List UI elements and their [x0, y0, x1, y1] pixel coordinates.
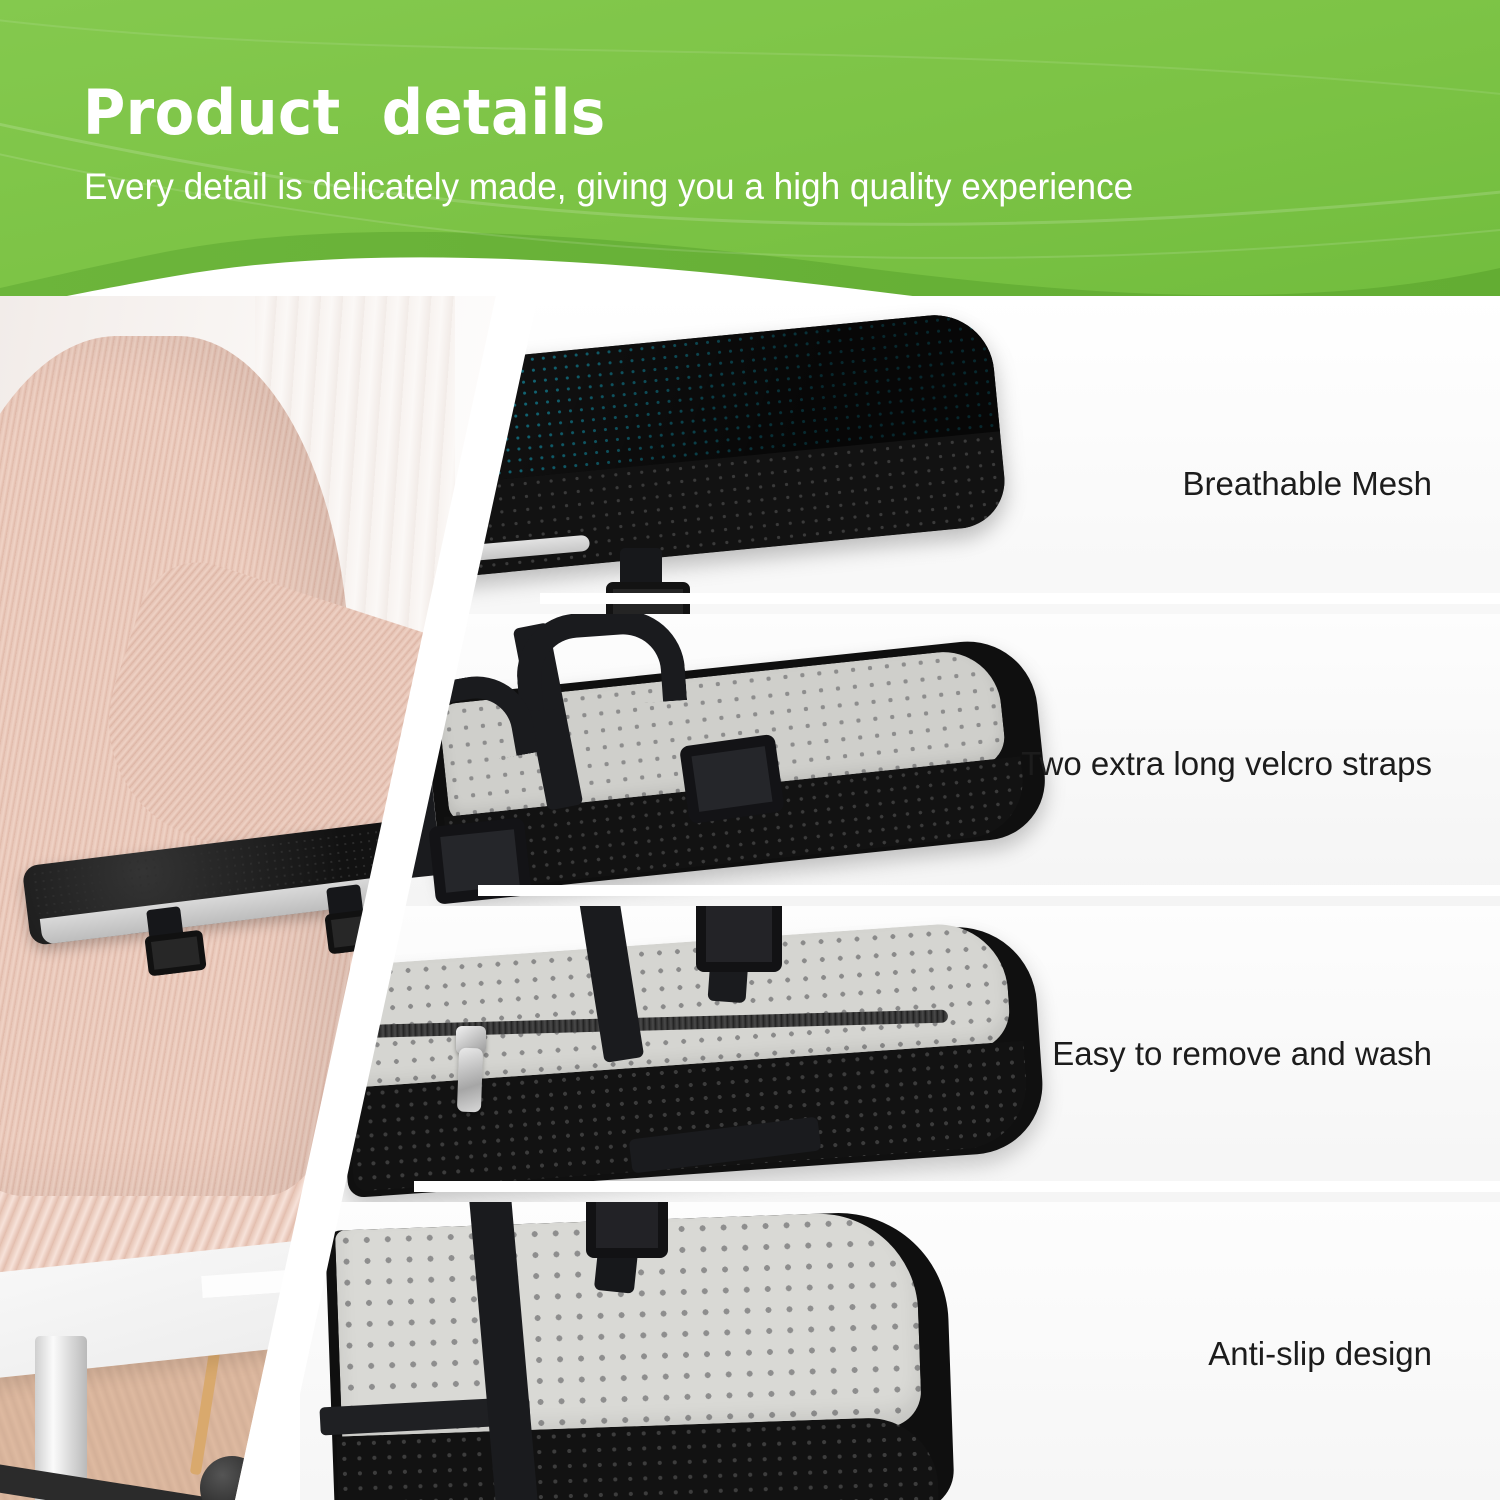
strap-buckle [606, 582, 690, 614]
feature-label-velcro-straps: Two extra long velcro straps [1021, 745, 1432, 783]
header-banner: Product details Every detail is delicate… [0, 0, 1500, 330]
strap-buckle [144, 930, 206, 977]
page-subtitle: Every detail is delicately made, giving … [84, 166, 1133, 208]
strap-buckle-upper [696, 906, 782, 972]
velcro-strap-loop-1 [513, 614, 687, 712]
strap-buckle-2 [428, 817, 532, 905]
feature-label-anti-slip: Anti-slip design [1208, 1335, 1432, 1373]
zipper-pull-tab [457, 1048, 483, 1113]
strap-buckle-1 [679, 734, 785, 825]
feature-label-breathable-mesh: Breathable Mesh [1183, 465, 1432, 503]
page-title: Product details [83, 76, 606, 149]
strap-buckle [586, 1202, 668, 1258]
header-wave-shape [0, 0, 1500, 330]
product-details-infographic: Product details Every detail is delicate… [0, 0, 1500, 1500]
feature-label-remove-and-wash: Easy to remove and wash [1052, 1035, 1432, 1073]
